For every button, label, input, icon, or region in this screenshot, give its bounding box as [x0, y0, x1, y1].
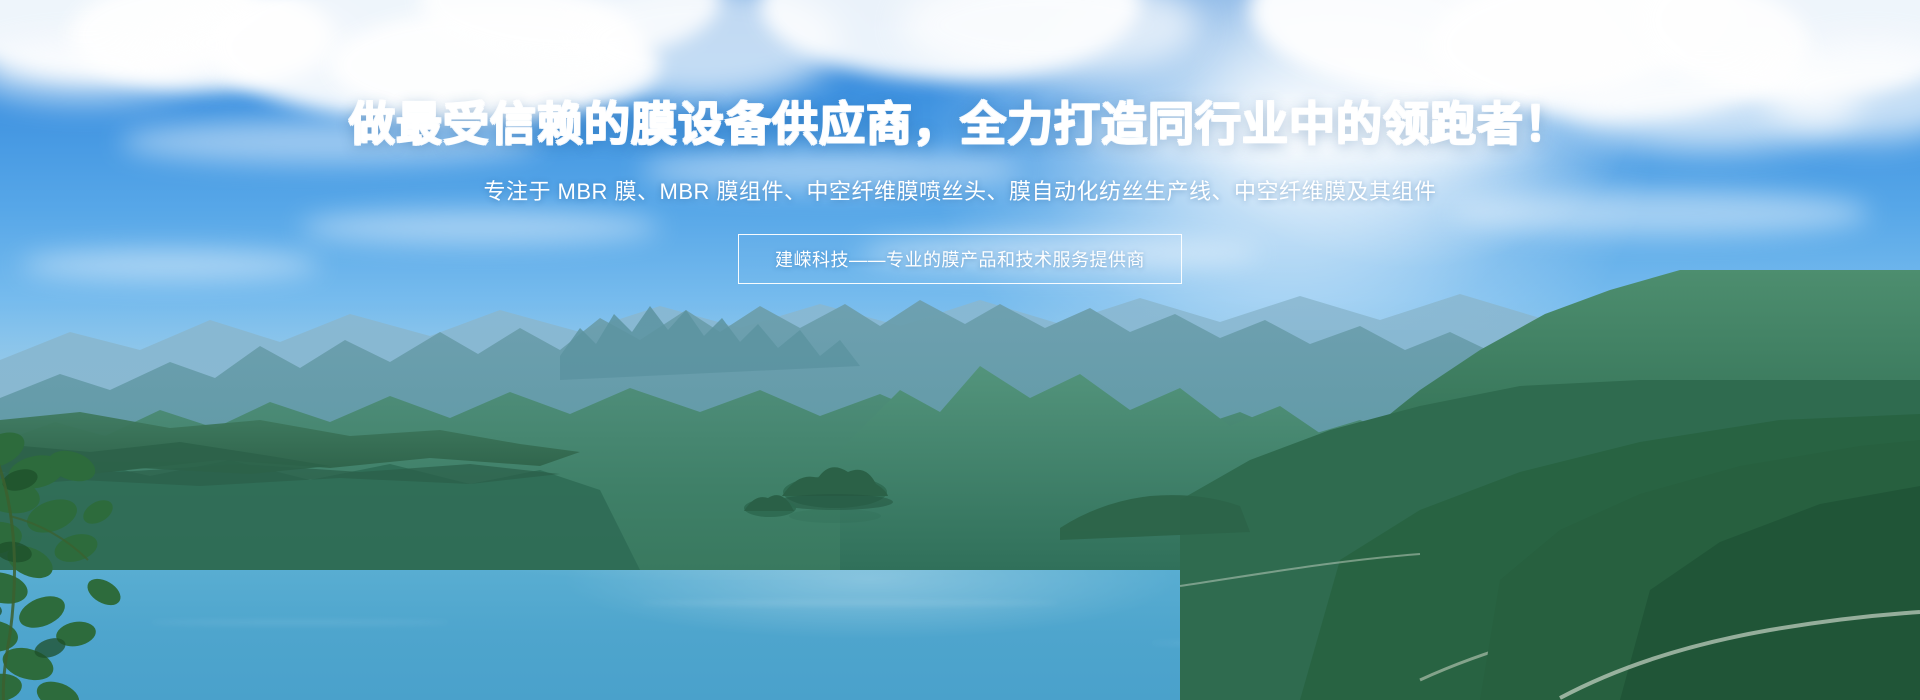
hero-text-block: 做最受信赖的膜设备供应商，全力打造同行业中的领跑者！ 专注于 MBR 膜、MBR… [0, 0, 1920, 284]
page-title: 做最受信赖的膜设备供应商，全力打造同行业中的领跑者！ [0, 0, 1920, 148]
foreground-banks [0, 430, 1920, 700]
foreground-foliage [0, 420, 180, 700]
hero-banner: 做最受信赖的膜设备供应商，全力打造同行业中的领跑者！ 专注于 MBR 膜、MBR… [0, 0, 1920, 700]
hero-subtitle: 专注于 MBR 膜、MBR 膜组件、中空纤维膜喷丝头、膜自动化纺丝生产线、中空纤… [0, 148, 1920, 206]
company-tagline-box[interactable]: 建嵘科技——专业的膜产品和技术服务提供商 [738, 234, 1182, 284]
tagline-container: 建嵘科技——专业的膜产品和技术服务提供商 [0, 206, 1920, 284]
